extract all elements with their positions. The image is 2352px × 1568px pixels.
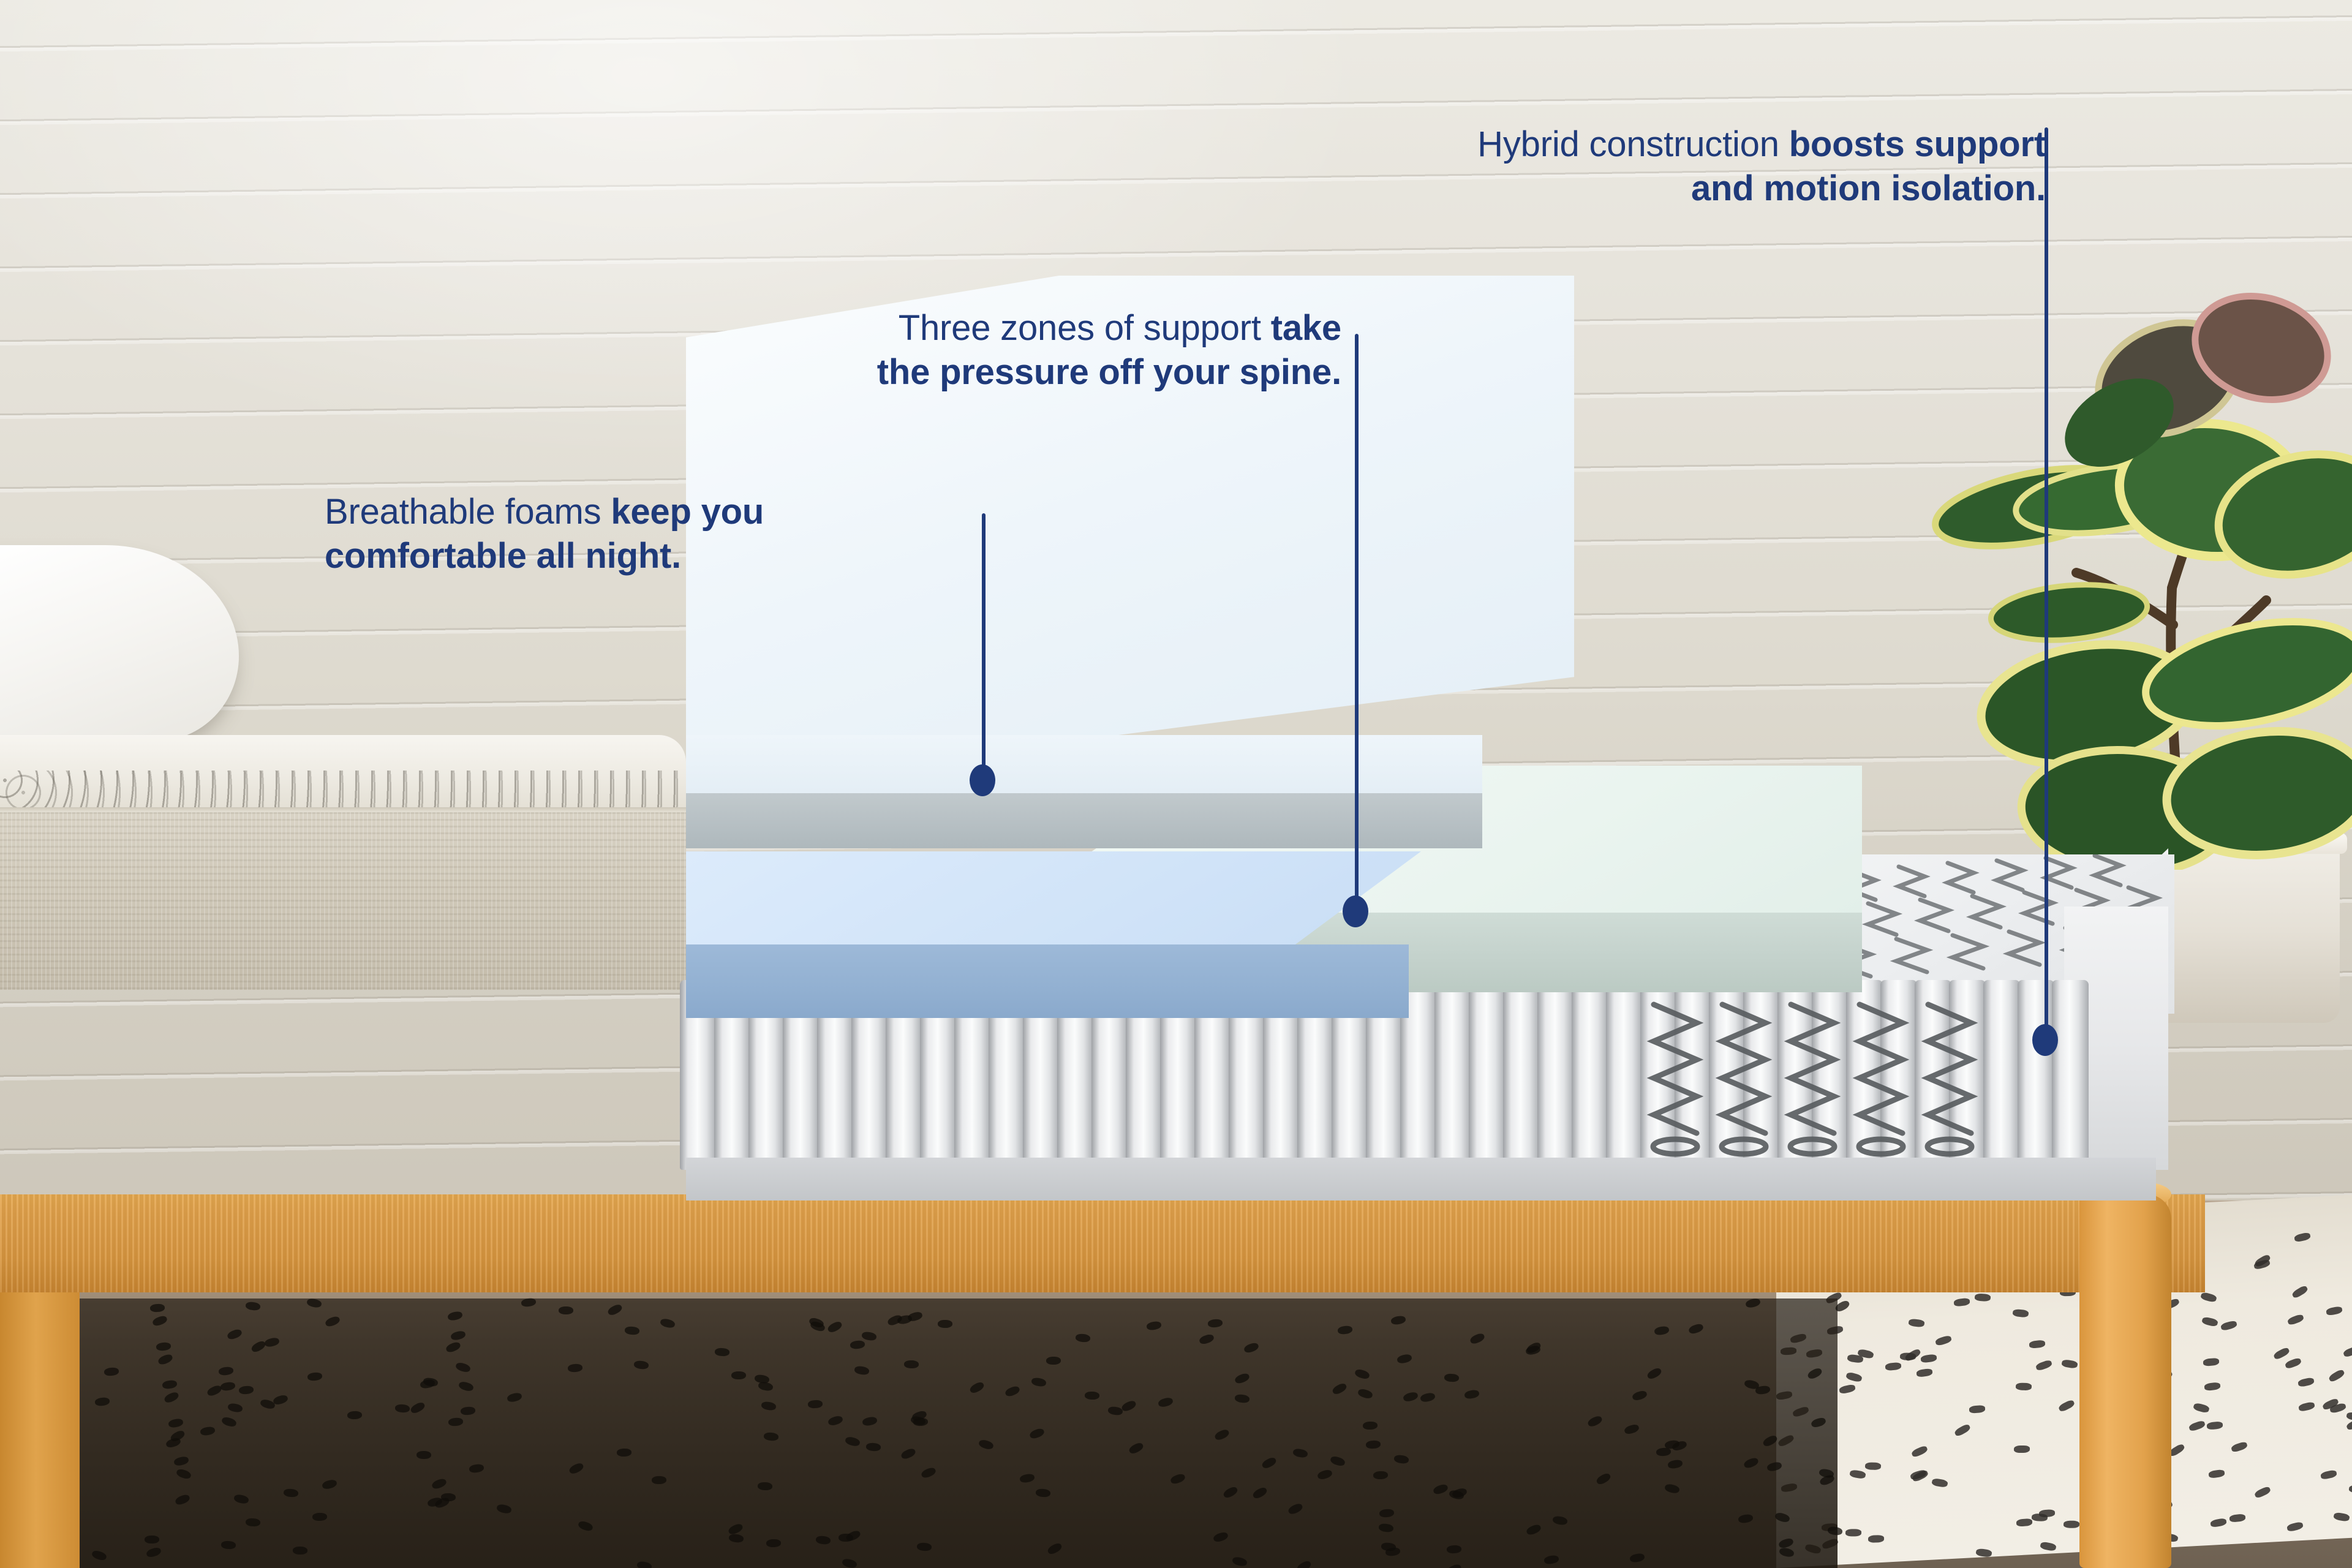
rug-speckle [157, 1352, 174, 1365]
rug-speckle [2203, 1358, 2219, 1366]
rug-speckle [238, 1385, 254, 1395]
rug-speckle [1292, 1448, 1308, 1458]
rug-speckle [2286, 1521, 2304, 1532]
rug-speckle [617, 1448, 631, 1457]
rug-speckle [1234, 1372, 1250, 1385]
rug-speckle [904, 1360, 919, 1369]
rug-speckle [652, 1476, 666, 1484]
rug-speckle [245, 1301, 260, 1311]
rug-speckle [507, 1392, 522, 1403]
rug-speckle [1543, 1555, 1559, 1565]
rug-speckle [2326, 1306, 2342, 1316]
rug-speckle [324, 1315, 341, 1328]
rug-speckle [1596, 1472, 1612, 1486]
rug-speckle [322, 1479, 338, 1490]
rug-speckle [145, 1546, 162, 1558]
rug-speckle [233, 1493, 249, 1504]
rug-speckle [1954, 1423, 1972, 1437]
rug-speckle [1076, 1333, 1091, 1343]
rug-speckle [450, 1330, 466, 1341]
rug-speckle [1379, 1509, 1394, 1518]
rug-speckle [409, 1401, 426, 1415]
rug-speckle [862, 1416, 878, 1427]
rug-speckle [1199, 1333, 1215, 1345]
rug-speckle [2320, 1470, 2337, 1480]
rug-speckle [1868, 1535, 1884, 1543]
rug-speckle [1447, 1545, 1462, 1553]
rug-speckle [1975, 1548, 1992, 1558]
rug-speckle [2273, 1346, 2291, 1360]
rug-speckle [221, 1540, 236, 1549]
rug-speckle [2343, 1345, 2352, 1358]
rug-speckle [1920, 1354, 1937, 1363]
rug-speckle [2208, 1469, 2225, 1479]
rug-speckle [568, 1461, 585, 1475]
rug-speckle [448, 1417, 463, 1427]
rug-speckle [728, 1533, 744, 1543]
rug-speckle [633, 1360, 649, 1370]
rug-speckle [521, 1297, 537, 1307]
rug-speckle [2348, 1485, 2352, 1493]
rug-speckle [469, 1463, 485, 1473]
callout-zones-line2-bold: the pressure off your spine. [877, 352, 1341, 392]
callout-line-hybrid-construction [2045, 127, 2048, 1040]
rug-speckle [1433, 1483, 1449, 1495]
rug-speckle [162, 1380, 178, 1390]
rug-speckle [417, 1451, 431, 1459]
rug-speckle [2206, 1421, 2222, 1430]
rug-speckle [1738, 1513, 1754, 1524]
rug-speckle [2254, 1486, 2272, 1499]
rug-speckle [624, 1326, 639, 1335]
rug-speckle [1469, 1332, 1485, 1346]
rug-speckle [460, 1406, 475, 1415]
rug-speckle [1646, 1366, 1662, 1381]
callout-foams-line1-normal: Breathable foams [325, 492, 611, 532]
callout-text-breathable-foams: Breathable foams keep you comfortable al… [325, 490, 992, 578]
rug-speckle [920, 1466, 937, 1479]
rug-speckle [284, 1488, 299, 1498]
rug-speckle [1046, 1357, 1061, 1365]
rug-speckle [854, 1365, 870, 1376]
rug-speckle [758, 1482, 773, 1490]
rug-speckle [219, 1366, 234, 1376]
rug-speckle [2210, 1518, 2226, 1528]
callout-dot-hybrid-construction [2032, 1024, 2058, 1056]
quilted-mattress [0, 735, 686, 992]
rug-speckle [1911, 1445, 1929, 1458]
rug-speckle [1231, 1556, 1247, 1567]
rug-speckle [1208, 1319, 1223, 1328]
rug-speckle [1664, 1483, 1680, 1494]
rug-speckle [1446, 1563, 1463, 1568]
rug-speckle [2201, 1316, 2218, 1327]
rug-speckle [173, 1456, 189, 1467]
rug-speckle [455, 1362, 472, 1374]
rug-speckle [1146, 1321, 1162, 1331]
rug-speckle [1806, 1367, 1823, 1381]
rug-speckle [660, 1317, 676, 1329]
rug-speckle [1031, 1377, 1047, 1387]
rug-speckle [1656, 1447, 1671, 1457]
rug-speckle [1169, 1472, 1186, 1485]
rug-speckle [1845, 1529, 1862, 1537]
callout-hybrid-line2-bold: and motion isolation. [1691, 168, 2046, 208]
rug-speckle [420, 1379, 435, 1389]
rug-speckle [168, 1418, 184, 1428]
rug-speckle [145, 1536, 159, 1543]
rug-speckle [1586, 1415, 1603, 1428]
rug-speckle [1402, 1391, 1419, 1403]
rug-speckle [156, 1342, 171, 1351]
rug-speckle [2298, 1401, 2315, 1412]
rug-speckle [1904, 1348, 1922, 1363]
rug-speckle [163, 1391, 179, 1404]
rug-speckle [395, 1404, 410, 1413]
blue-band-layer-side [686, 944, 1409, 1018]
rug-speckle [1774, 1512, 1791, 1523]
rug-speckle [1552, 1515, 1568, 1526]
rug-speckle [104, 1367, 119, 1376]
rug-speckle [886, 1314, 903, 1327]
rug-speckle [1839, 1384, 1856, 1394]
rug-speckle [2291, 1284, 2309, 1299]
rug-speckle [2040, 1541, 2057, 1551]
rug-speckle [1107, 1406, 1123, 1415]
rug-speckle [978, 1439, 994, 1451]
rug-speckle [2231, 1441, 2248, 1453]
mattress-side-panel [0, 812, 686, 990]
callout-hybrid-line1-normal: Hybrid construction [1477, 124, 1789, 164]
rug-speckle [1329, 1455, 1346, 1467]
rug-speckle [307, 1372, 323, 1381]
rug-speckle [567, 1363, 582, 1373]
mattress-seam [0, 807, 686, 812]
rug-speckle [1213, 1531, 1229, 1543]
rug-speckle [938, 1319, 952, 1327]
rug-speckle [245, 1518, 260, 1527]
grey-band-layer [686, 790, 1482, 848]
mattress-quilting [0, 771, 686, 807]
rug-speckle [2346, 1411, 2352, 1421]
rug-speckle [845, 1529, 862, 1542]
rug-speckle [1654, 1325, 1670, 1336]
rug-speckle [2287, 1313, 2304, 1325]
rug-speckle [758, 1381, 774, 1392]
rug-speckle [636, 1561, 652, 1568]
rug-speckle [968, 1381, 985, 1395]
rug-speckle [2220, 1320, 2237, 1332]
rug-speckle [1036, 1488, 1051, 1498]
rug-speckle [1295, 1559, 1312, 1568]
rug-speckle [1357, 1387, 1373, 1399]
rug-speckle [861, 1331, 877, 1341]
rug-speckle [95, 1397, 110, 1407]
rug-speckle [273, 1393, 289, 1406]
rug-speckle [1251, 1486, 1268, 1500]
rug-speckle [441, 1493, 456, 1502]
white-top-layer-front [686, 735, 1482, 793]
rug-speckle [1158, 1396, 1174, 1408]
rug-speckle [764, 1432, 779, 1441]
rug-speckle [715, 1347, 730, 1356]
rug-speckle [2035, 1359, 2052, 1371]
rug-speckle [1464, 1389, 1480, 1400]
rug-speckle [761, 1401, 777, 1411]
rug-speckle [447, 1311, 463, 1322]
rug-speckle [1213, 1428, 1230, 1442]
rug-speckle [1085, 1391, 1099, 1400]
rug-speckle [1005, 1385, 1021, 1398]
rug-speckle [151, 1314, 168, 1327]
rug-speckle [1390, 1315, 1406, 1325]
rug-speckle [445, 1341, 461, 1354]
mattress-weave-texture [0, 812, 686, 990]
rug-speckle [1810, 1417, 1826, 1429]
rug-speckle [91, 1550, 108, 1562]
rug-speckle [1354, 1368, 1370, 1381]
rug-speckle [1331, 1382, 1347, 1396]
rug-speckle [842, 1558, 858, 1568]
rug-speckle [220, 1381, 236, 1391]
rug-speckle [1743, 1457, 1759, 1469]
rug-speckle [2064, 1520, 2080, 1528]
rug-speckle [1909, 1318, 1926, 1327]
rug-speckle [2229, 1514, 2246, 1523]
rug-speckle [850, 1340, 865, 1349]
rug-speckle [2058, 1399, 2076, 1413]
rug-speckle [306, 1298, 322, 1309]
rug-speckle [1365, 1440, 1381, 1449]
rug-speckle [175, 1468, 192, 1480]
callout-line-three-zones [1355, 334, 1359, 910]
rug-speckle [2285, 1357, 2302, 1370]
rug-speckle [1526, 1523, 1542, 1536]
rug-speckle [174, 1493, 190, 1506]
rug-speckle [913, 1417, 929, 1426]
rug-speckle [1419, 1392, 1435, 1403]
rug-speckle [221, 1416, 238, 1428]
callout-text-hybrid-construction: Hybrid construction boosts support and m… [1176, 123, 2046, 211]
rug-speckle [900, 1447, 917, 1460]
rug-speckle [826, 1320, 843, 1334]
rug-speckle [2200, 1292, 2217, 1303]
rug-speckle [1223, 1485, 1239, 1499]
callout-text-three-zones: Three zones of support take the pressure… [551, 306, 1341, 394]
rug-speckle [200, 1426, 216, 1436]
rug-speckle [150, 1304, 165, 1313]
rug-speckle [293, 1547, 307, 1555]
rug-speckle [1338, 1325, 1353, 1335]
rug-speckle [1362, 1421, 1378, 1430]
rug-speckle [1969, 1404, 1985, 1413]
mattress-cutaway-diagram [686, 668, 2168, 1237]
rug-speckle [1624, 1423, 1640, 1436]
rug-speckle [1047, 1542, 1063, 1556]
rug-speckle [2294, 1232, 2311, 1242]
rug-speckle [458, 1381, 475, 1392]
rug-speckle [1762, 1434, 1779, 1448]
rug-speckle [827, 1415, 844, 1427]
rug-speckle [1629, 1553, 1645, 1563]
rug-speckle [1917, 1368, 1933, 1378]
rug-speckle [1632, 1389, 1648, 1401]
rug-speckle [606, 1303, 623, 1316]
rug-speckle [227, 1402, 243, 1412]
rug-speckle [1865, 1462, 1882, 1470]
rug-speckle [1381, 1542, 1396, 1551]
rug-speckle [559, 1306, 573, 1314]
scene-root: Hybrid construction boosts support and m… [0, 0, 2352, 1568]
rug-speckle [1975, 1293, 1991, 1302]
rug-speckle [1128, 1441, 1144, 1455]
rug-speckle [766, 1539, 781, 1548]
rug-speckle [1029, 1427, 1046, 1440]
rug-speckle [1378, 1523, 1393, 1532]
rug-speckle [1766, 1461, 1782, 1472]
rug-speckle [866, 1442, 881, 1452]
rug-speckle [1885, 1362, 1901, 1371]
rug-speckle [1287, 1502, 1303, 1515]
rug-speckle [2061, 1359, 2078, 1369]
rug-speckle [815, 1536, 831, 1545]
callout-foams-line2-bold: comfortable all night. [325, 536, 681, 576]
callout-dot-breathable-foams [970, 764, 995, 796]
rug-speckle [431, 1477, 448, 1490]
rug-speckle [916, 1542, 932, 1551]
rug-speckle [1931, 1478, 1948, 1488]
rug-speckle [1234, 1394, 1249, 1404]
rug-speckle [2029, 1340, 2046, 1349]
rug-speckle [807, 1400, 823, 1408]
callout-foams-line1-bold: keep you [611, 492, 764, 532]
rug-speckle [1373, 1471, 1388, 1479]
callout-hybrid-line1-bold: boosts support [1789, 124, 2046, 164]
rug-speckle [2333, 1512, 2350, 1521]
rug-speckle [2192, 1403, 2209, 1414]
rug-speckle [347, 1411, 363, 1420]
rug-speckle [577, 1520, 594, 1532]
rug-speckle [2297, 1377, 2315, 1387]
mattress-top-surface [0, 735, 686, 809]
bed-frame-corner-post [2079, 1194, 2171, 1568]
rug-speckle [312, 1513, 327, 1521]
rug-shadow-area [0, 1298, 1838, 1568]
rug-speckle [1667, 1459, 1683, 1469]
rug-speckle [1688, 1322, 1705, 1335]
rug-speckle [2012, 1309, 2029, 1318]
rug-speckle [731, 1371, 746, 1379]
rug-speckle [2188, 1420, 2206, 1432]
rug-speckle [2013, 1445, 2029, 1453]
rug-speckle [2328, 1368, 2346, 1383]
rug-speckle [1317, 1469, 1333, 1480]
rug-speckle [1779, 1547, 1795, 1558]
rug-speckle [2016, 1518, 2032, 1526]
rug-speckle [496, 1504, 512, 1515]
callout-dot-three-zones [1343, 895, 1368, 927]
rug-speckle [1845, 1371, 1862, 1382]
coil-unit-base-plinth [686, 1158, 2156, 1200]
rug-speckle [1019, 1473, 1035, 1483]
rug-speckle [2015, 1382, 2032, 1390]
bed-frame-left-leg [0, 1292, 80, 1568]
rug-speckle [263, 1336, 279, 1347]
rug-speckle [1745, 1297, 1761, 1308]
rug-speckle [845, 1436, 861, 1447]
rug-speckle [1261, 1456, 1277, 1470]
rug-speckle [1954, 1297, 1970, 1306]
rug-speckle [226, 1328, 243, 1341]
rug-speckle [1744, 1379, 1760, 1390]
callout-zones-line1-normal: Three zones of support [899, 308, 1271, 348]
rug-speckle [1393, 1455, 1409, 1464]
rug-speckle [1243, 1341, 1259, 1354]
rug-speckle [1849, 1469, 1866, 1479]
callout-zones-line1-bold: take [1271, 308, 1341, 348]
rug-speckle [1444, 1373, 1459, 1382]
rug-speckle [2032, 1513, 2048, 1521]
rug-speckle [2204, 1382, 2220, 1392]
rug-speckle [1934, 1335, 1951, 1347]
rug-speckle [1396, 1353, 1412, 1364]
rug-speckle [1778, 1537, 1795, 1550]
